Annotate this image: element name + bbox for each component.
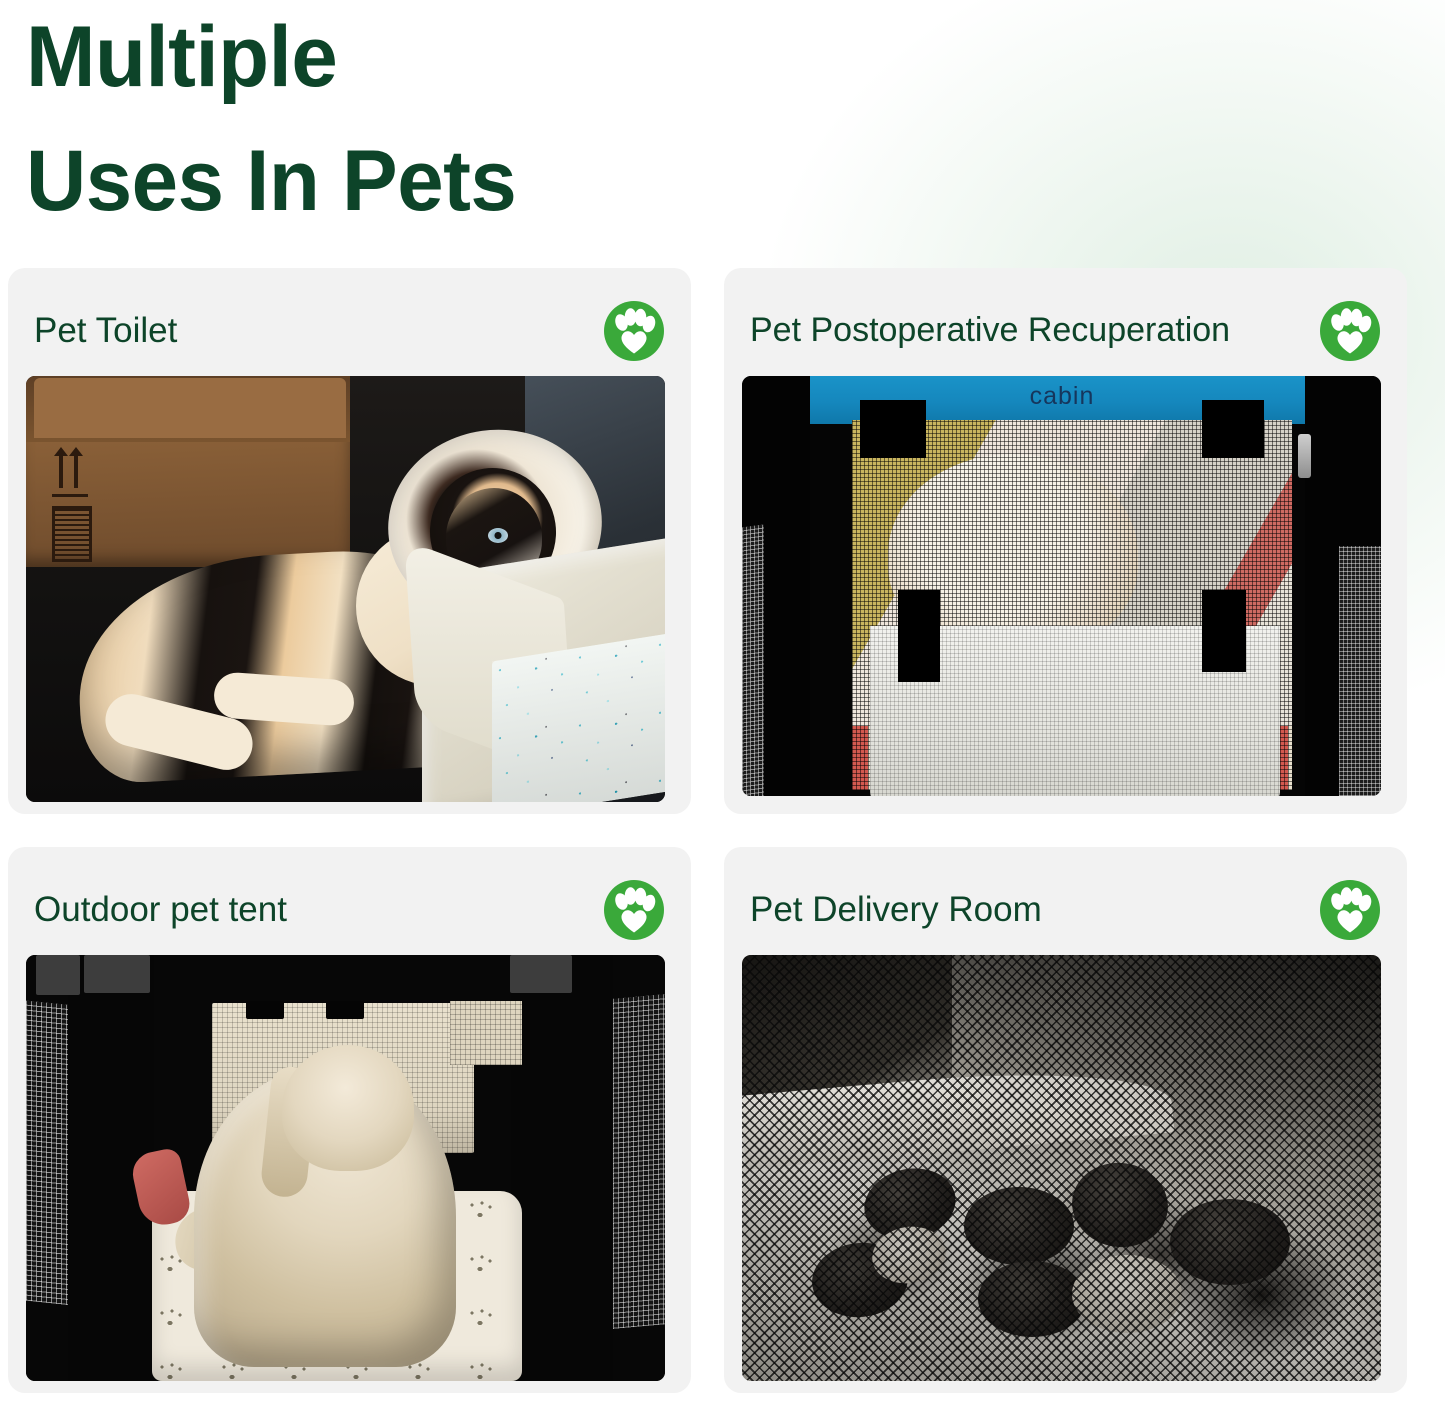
carrier-brand-text: cabin (742, 376, 1381, 418)
feature-card-pet-toilet[interactable]: Pet Toilet (8, 268, 691, 814)
feature-card-pet-postoperative-recuperation[interactable]: Pet Postoperative Recuperation cabin (724, 268, 1407, 814)
paw-icon (1319, 300, 1381, 362)
page-title-line-2: Uses In Pets (26, 120, 763, 244)
page-title: Multiple Uses In Pets (26, 0, 786, 244)
paw-icon (1319, 879, 1381, 941)
card-title: Pet Postoperative Recuperation (750, 312, 1230, 349)
card-title: Pet Toilet (34, 312, 177, 351)
paw-icon (603, 300, 665, 362)
card-header: Pet Delivery Room (742, 865, 1389, 955)
feature-card-outdoor-pet-tent[interactable]: Outdoor pet tent (8, 847, 691, 1393)
feature-card-grid: Pet Toilet (8, 268, 1437, 1393)
photo-outdoor-pet-tent (26, 955, 665, 1381)
product-infographic-page: Multiple Uses In Pets Pet Toilet (0, 0, 1445, 1414)
card-header: Pet Postoperative Recuperation (742, 286, 1389, 376)
paw-icon (603, 879, 665, 941)
page-title-line-1: Multiple (26, 0, 763, 120)
photo-pet-postoperative-recuperation: cabin (742, 376, 1381, 796)
card-title: Pet Delivery Room (750, 891, 1042, 930)
photo-pet-delivery-room (742, 955, 1381, 1381)
card-header: Outdoor pet tent (26, 865, 673, 955)
card-header: Pet Toilet (26, 286, 673, 376)
photo-pet-toilet (26, 376, 665, 802)
card-title: Outdoor pet tent (34, 891, 287, 930)
feature-card-pet-delivery-room[interactable]: Pet Delivery Room (724, 847, 1407, 1393)
